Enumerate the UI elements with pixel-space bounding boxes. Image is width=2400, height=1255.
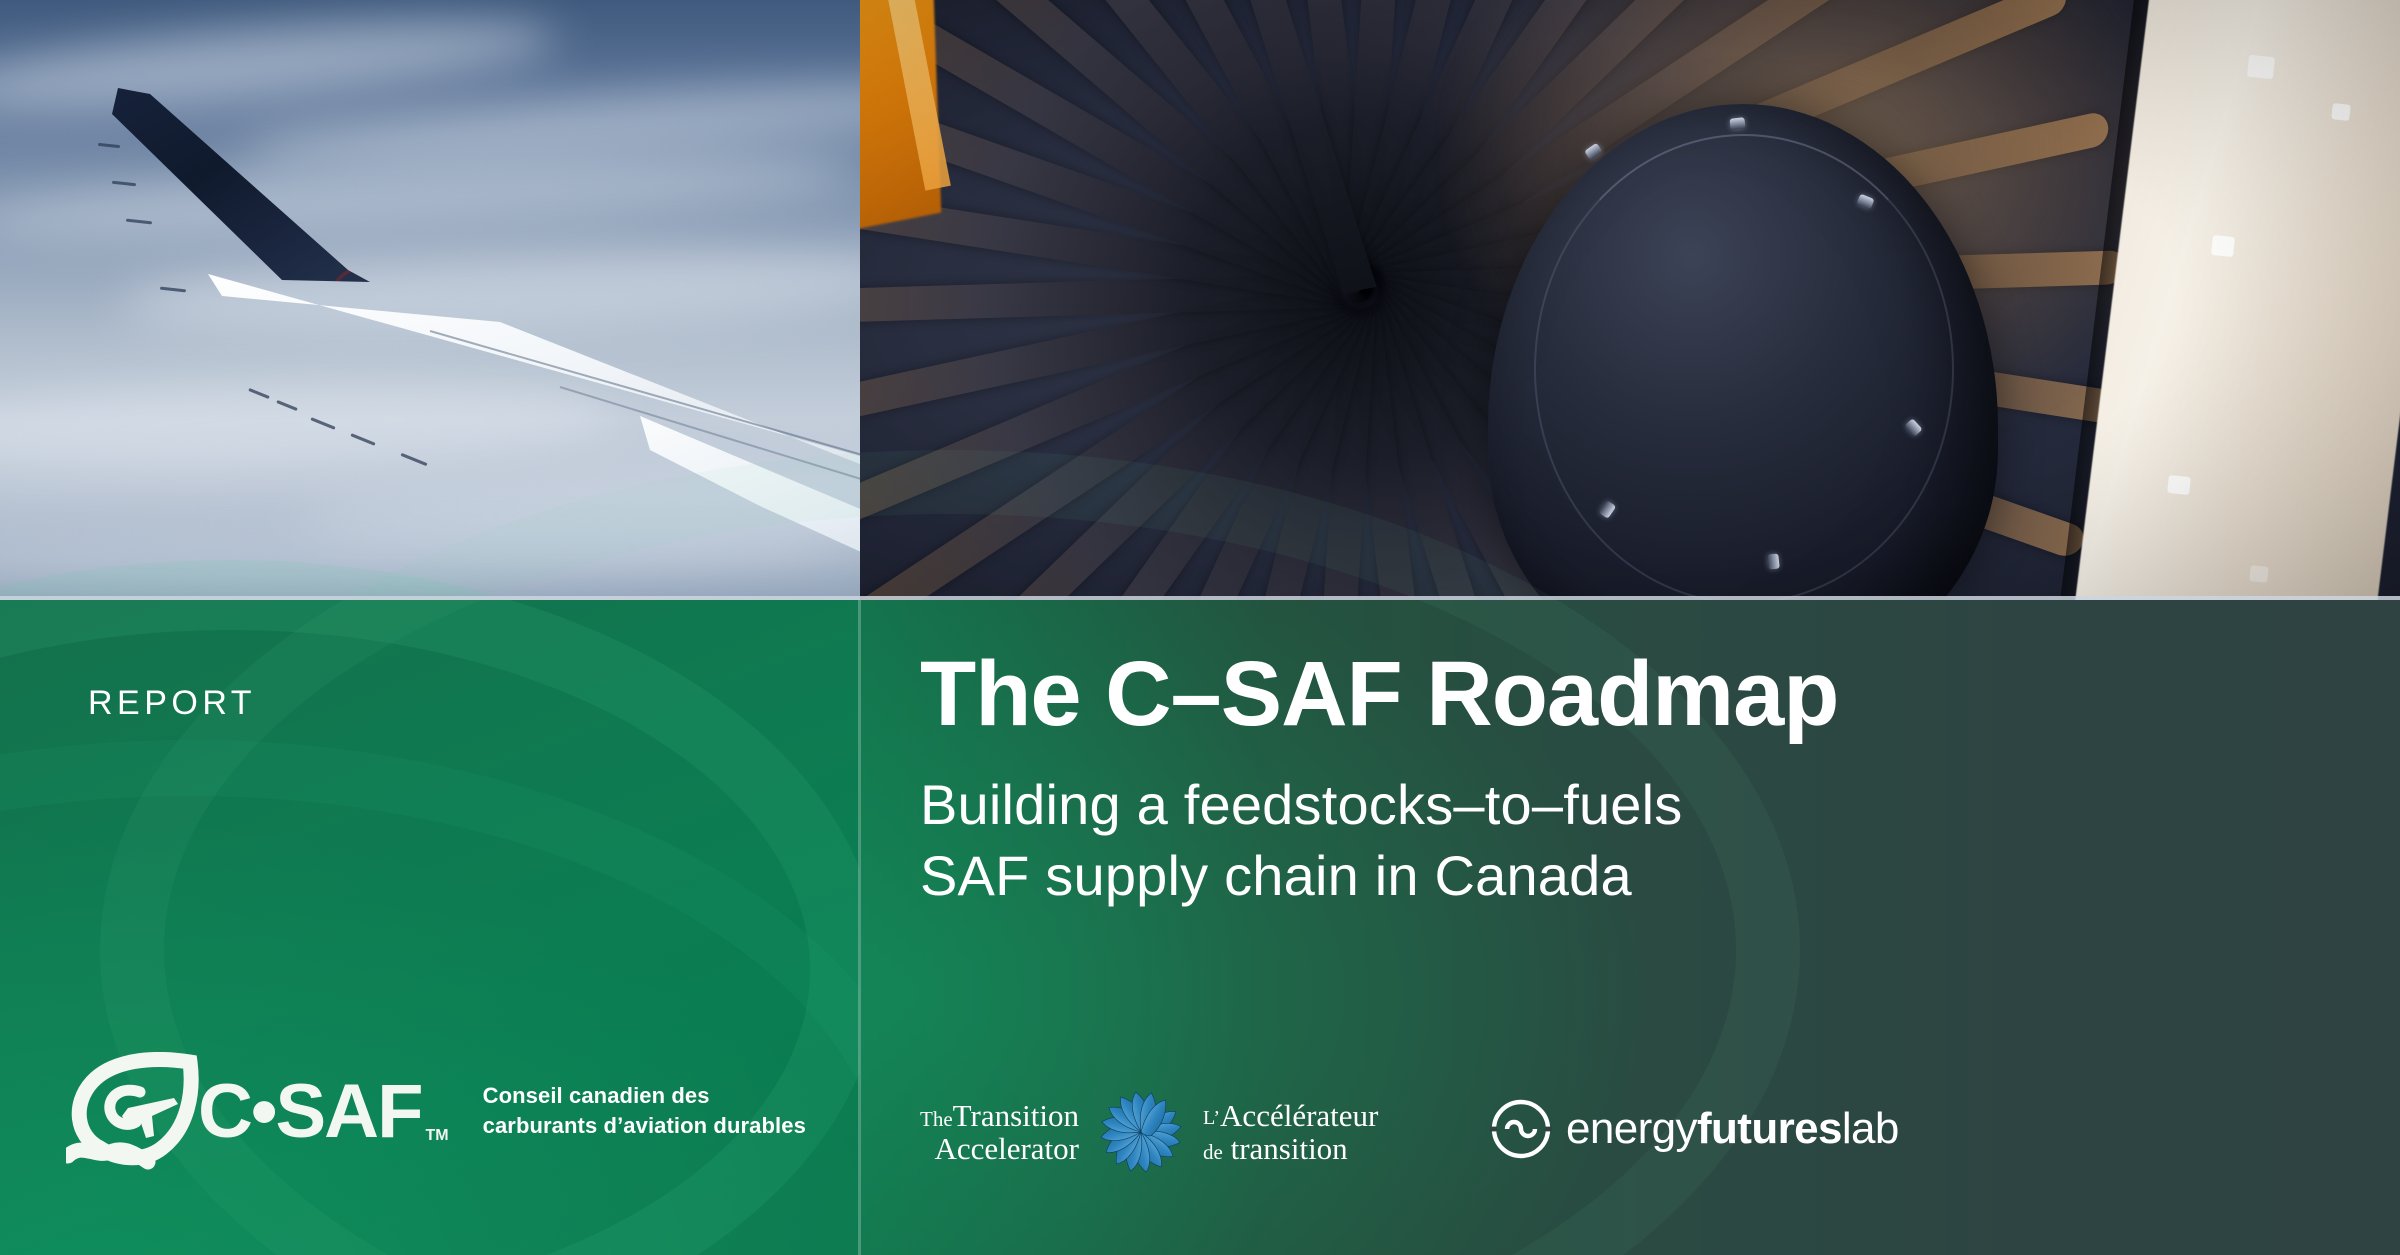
- cloud-layer: [0, 368, 621, 482]
- csaf-trademark: TM: [426, 1127, 449, 1145]
- page-subtitle: Building a feedstocks–to–fuels SAF suppl…: [920, 769, 1838, 912]
- csaf-tagline: Conseil canadien des carburants d’aviati…: [483, 1081, 806, 1140]
- pinwheel-swirl-icon: [1095, 1086, 1187, 1178]
- efl-lab: lab: [1842, 1104, 1899, 1153]
- ta-fr-de: de: [1203, 1140, 1223, 1164]
- transition-accelerator-logo: TheTransition Accelerator L’Accélérateur: [920, 1086, 1378, 1178]
- page-subtitle-line-1: Building a feedstocks–to–fuels: [920, 769, 1838, 841]
- panel-divider: [858, 600, 861, 1255]
- csaf-wordmark-text: C•SAF: [198, 1068, 422, 1155]
- ta-en-accelerator: Accelerator: [920, 1132, 1079, 1165]
- photo-band-divider: [0, 596, 2400, 600]
- title-block: The C–SAF Roadmap Building a feedstocks–…: [920, 646, 1838, 912]
- report-cover: REPORT The C–SAF Roadmap Building a feed…: [0, 0, 2400, 1255]
- transition-accelerator-fr: L’Accélérateur de transition: [1203, 1099, 1378, 1166]
- circular-wave-icon: [1490, 1098, 1552, 1160]
- csaf-tagline-line-1: Conseil canadien des: [483, 1081, 806, 1111]
- report-kicker: REPORT: [88, 684, 256, 723]
- csaf-wordmark: C•SAF TM: [198, 1068, 449, 1155]
- ta-en-the: The: [920, 1107, 953, 1131]
- csaf-leaf-airplane-icon: [66, 1052, 202, 1170]
- ta-en-transition: Transition: [953, 1098, 1079, 1133]
- ta-fr-accelerateur: Accélérateur: [1220, 1098, 1378, 1133]
- page-subtitle-line-2: SAF supply chain in Canada: [920, 840, 1838, 912]
- csaf-tagline-line-2: carburants d’aviation durables: [483, 1111, 806, 1141]
- transition-accelerator-en: TheTransition Accelerator: [920, 1099, 1079, 1166]
- csaf-logo: C•SAF TM Conseil canadien des carburants…: [66, 1052, 806, 1170]
- energy-futures-lab-logo: energyfutureslab: [1490, 1098, 1899, 1160]
- efl-energy: energy: [1566, 1104, 1697, 1153]
- ta-fr-line-2: de transition: [1203, 1132, 1378, 1165]
- energy-futures-lab-wordmark: energyfutureslab: [1566, 1104, 1899, 1154]
- ta-en-line-1: TheTransition: [920, 1099, 1079, 1132]
- ta-fr-line-1: L’Accélérateur: [1203, 1099, 1378, 1132]
- vortex-generator: [98, 143, 120, 148]
- ta-fr-l: L’: [1203, 1107, 1220, 1129]
- page-title: The C–SAF Roadmap: [920, 646, 1838, 743]
- vortex-generator: [112, 181, 136, 186]
- efl-futures: futures: [1697, 1104, 1842, 1153]
- ta-fr-transition: transition: [1231, 1131, 1348, 1166]
